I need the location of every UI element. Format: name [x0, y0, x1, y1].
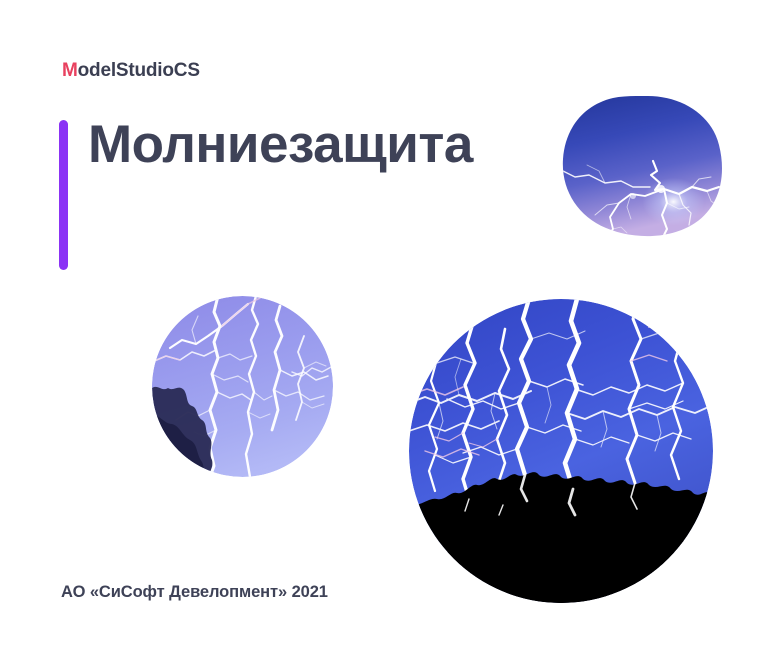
page-title: Молниезащита — [88, 117, 473, 173]
lightning-blob-top-right — [561, 95, 723, 237]
brand-logo-mark: M — [62, 60, 78, 81]
presentation-slide: ModelStudioCS Молниезащита — [0, 0, 781, 651]
lightning-circle-middle — [152, 296, 333, 477]
brand-logo-text: odelStudioCS — [78, 60, 200, 81]
brand-logo: ModelStudioCS — [62, 61, 200, 80]
footer-copyright: АО «СиСофт Девелопмент» 2021 — [61, 583, 328, 602]
lightning-circle-large — [409, 299, 713, 603]
title-accent-bar — [59, 120, 68, 270]
